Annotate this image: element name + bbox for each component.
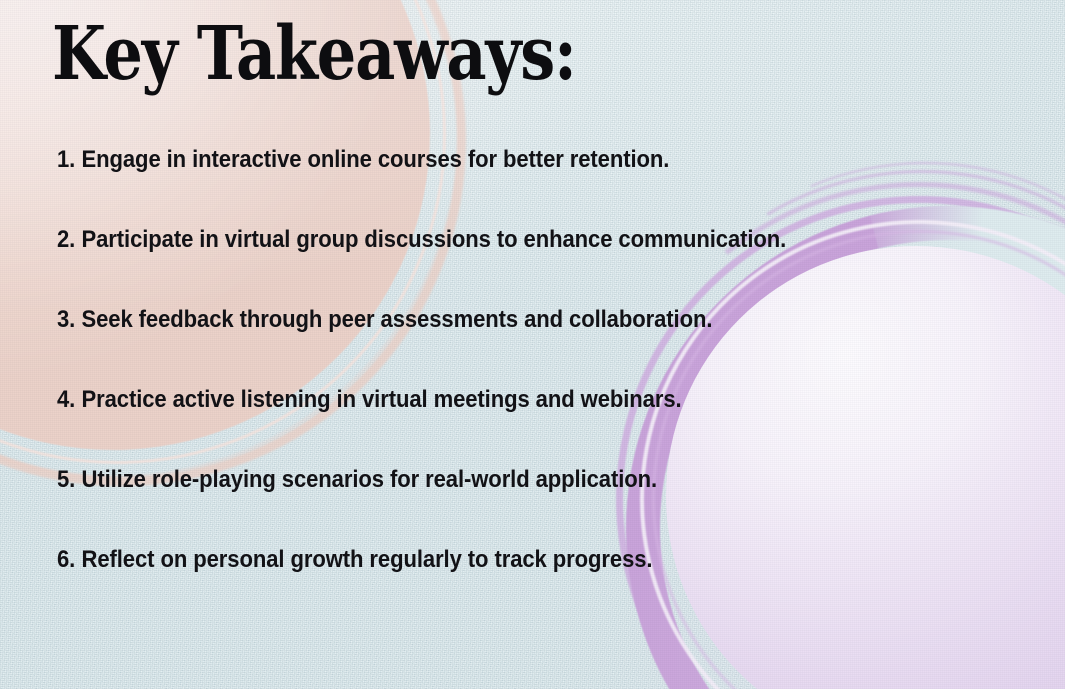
takeaways-list: 1. Engage in interactive online courses … [57,146,1017,626]
key-takeaways-poster: Key Takeaways: 1. Engage in interactive … [0,0,1065,689]
list-item: 2. Participate in virtual group discussi… [57,226,921,306]
page-title: Key Takeaways: [52,17,576,92]
list-item-text: Engage in interactive online courses for… [82,146,670,174]
list-item: 5. Utilize role-playing scenarios for re… [57,466,921,546]
list-item-text: Practice active listening in virtual mee… [82,386,682,414]
list-item-number: 6. [57,546,75,574]
list-item: 6. Reflect on personal growth regularly … [57,546,921,626]
list-item-text: Utilize role-playing scenarios for real-… [82,466,658,494]
list-item-number: 2. [57,226,75,254]
list-item: 4. Practice active listening in virtual … [57,386,921,466]
list-item: 1. Engage in interactive online courses … [57,146,921,226]
list-item: 3. Seek feedback through peer assessment… [57,306,921,386]
list-item-text: Reflect on personal growth regularly to … [82,546,653,574]
list-item-text: Seek feedback through peer assessments a… [82,306,713,334]
list-item-number: 5. [57,466,75,494]
list-item-number: 1. [57,146,75,174]
list-item-number: 4. [57,386,75,414]
list-item-number: 3. [57,306,75,334]
poster-content: Key Takeaways: 1. Engage in interactive … [0,0,1065,689]
list-item-text: Participate in virtual group discussions… [82,226,787,254]
